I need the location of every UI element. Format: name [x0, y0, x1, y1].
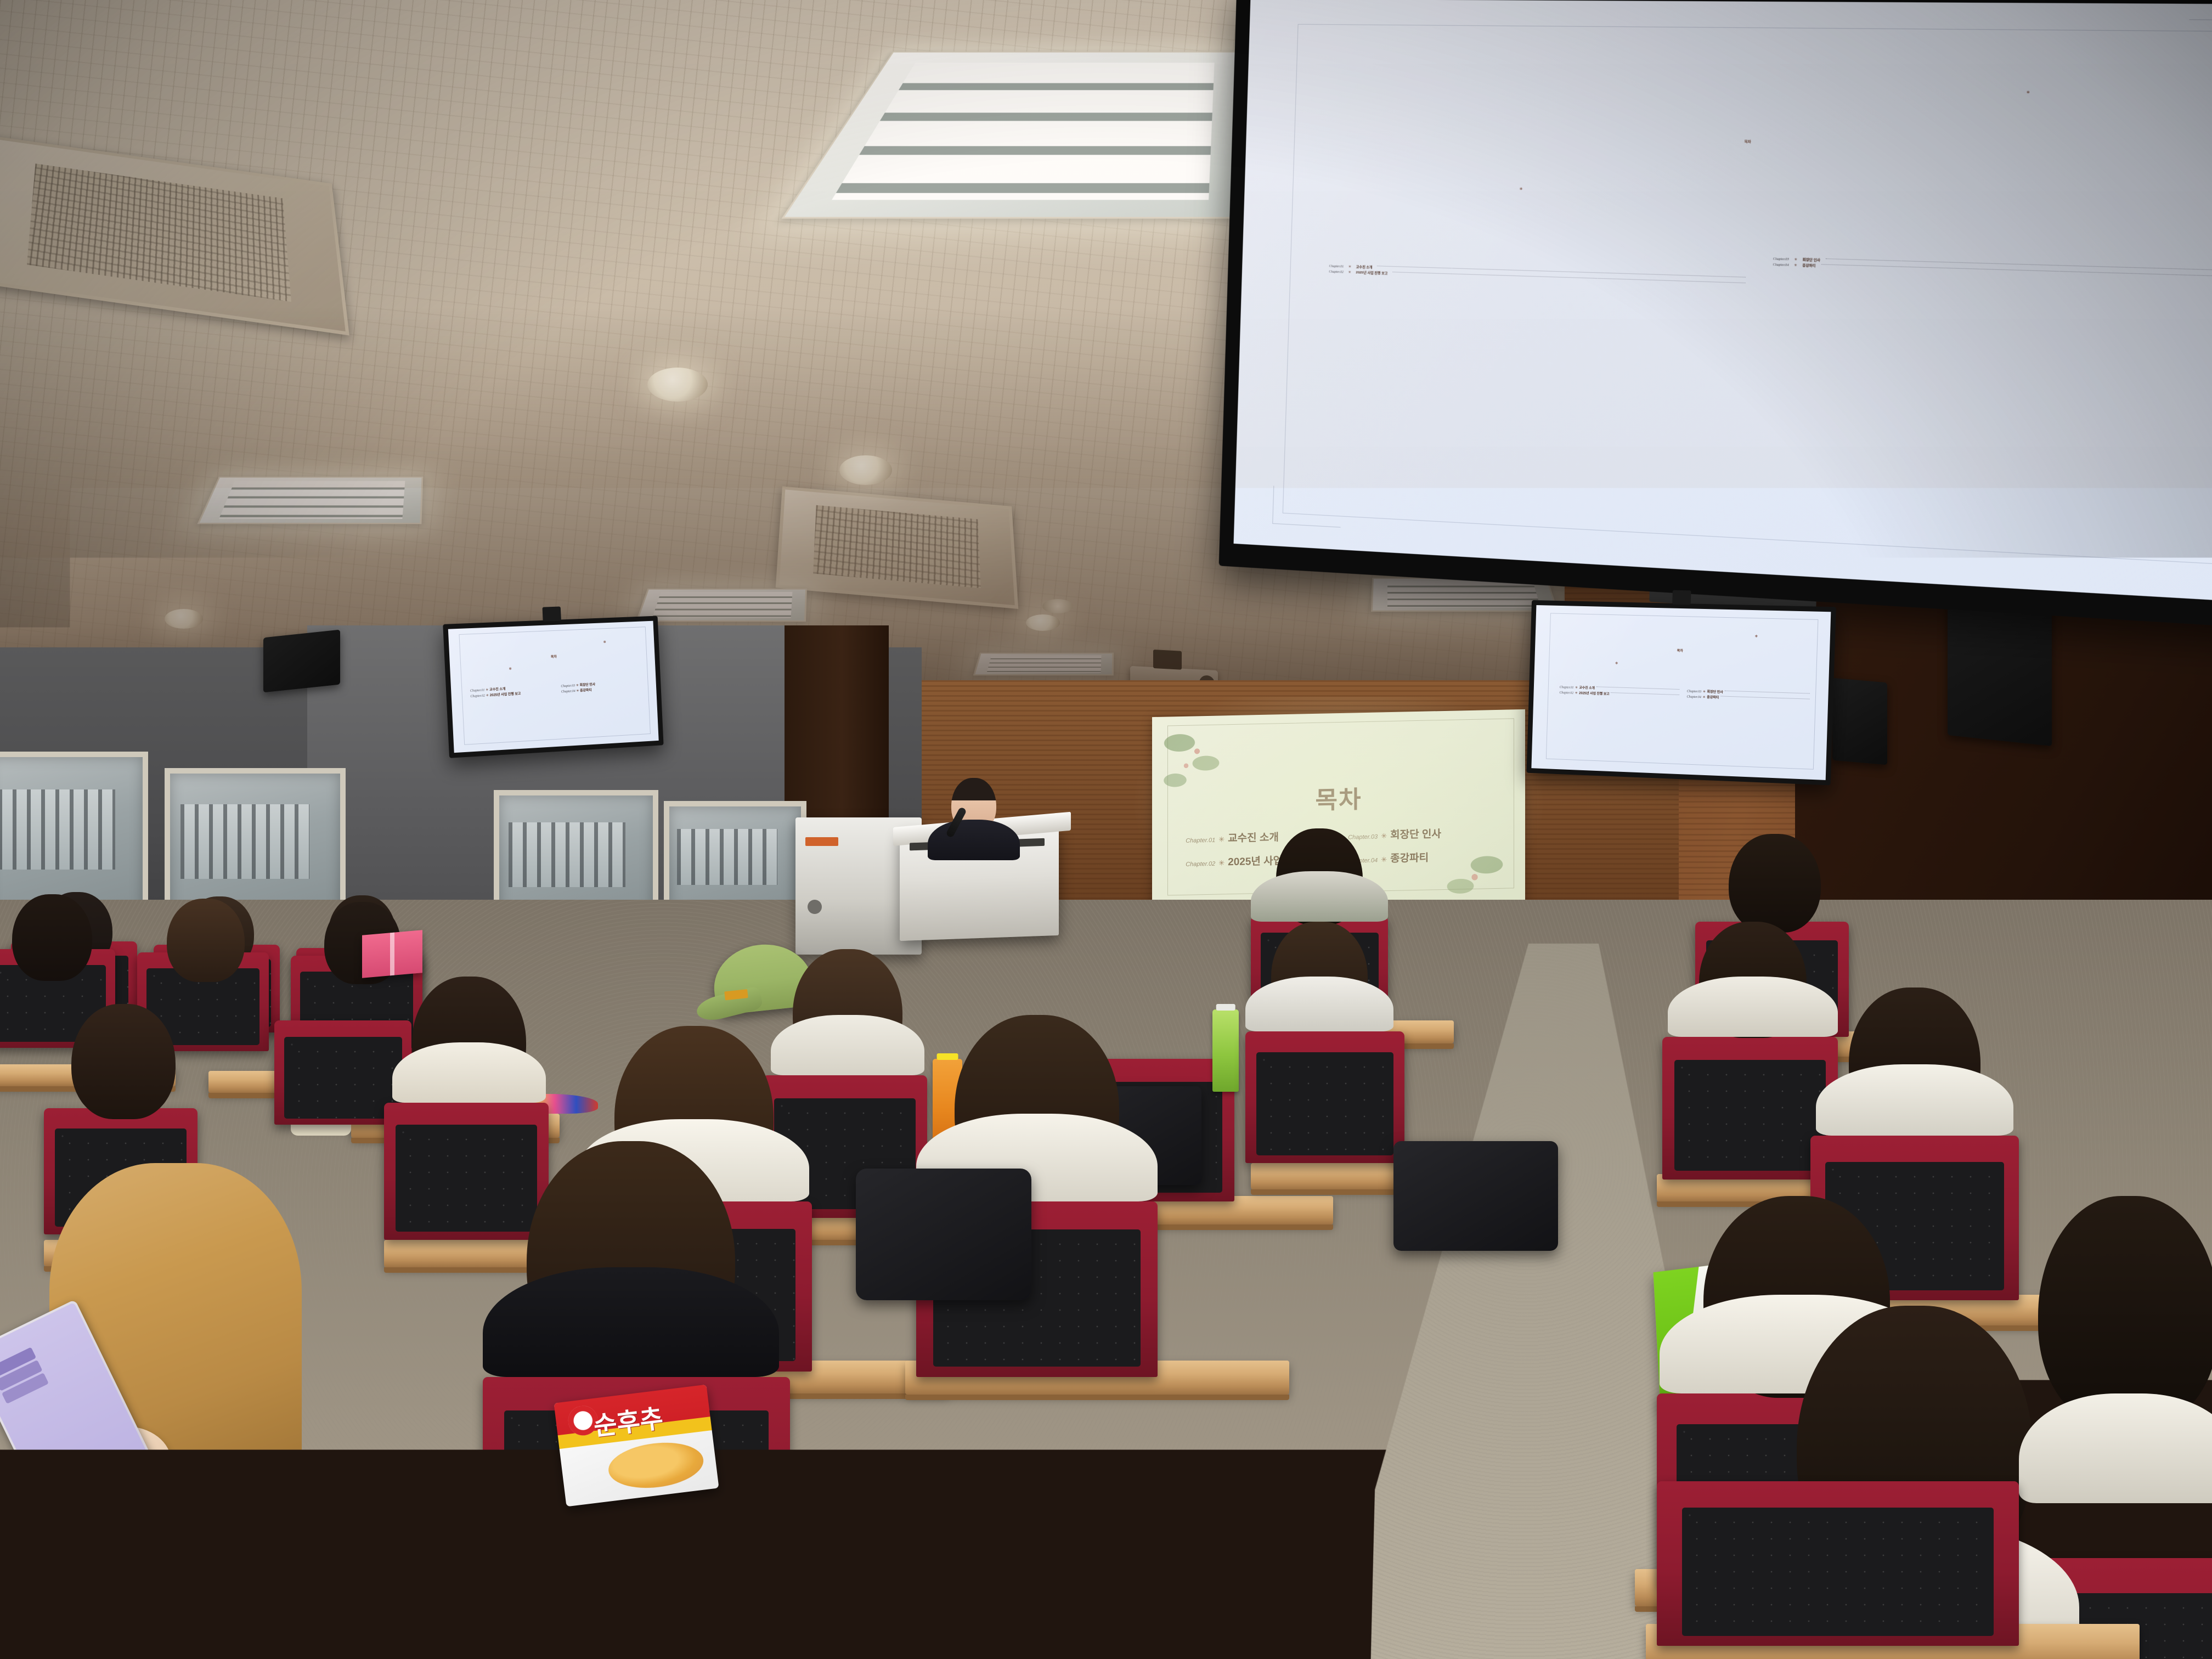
audience-member [55, 1004, 192, 1114]
fluorescent-tubes-icon [832, 63, 1215, 200]
audience-member [148, 899, 263, 975]
seat-back [1674, 1060, 1825, 1171]
monitor-ceiling-mount [542, 606, 561, 621]
wall-speaker [263, 630, 340, 693]
snowflake-icon: ✻ [603, 641, 606, 644]
presenter [927, 778, 1020, 860]
cart-label-icon [805, 837, 838, 846]
snowflake-icon: ✻ [2027, 91, 2030, 95]
main-monitor-screen: ✻ ✻ 목차 Chapter.01 ✳ 교수진 소개 Chapter.03 ✳ … [1234, 0, 2212, 604]
star-bullet-icon: ✳ [1218, 835, 1224, 844]
audience-member [1706, 834, 1843, 927]
person-body [1816, 1064, 2013, 1136]
left-ceiling-monitor[interactable]: ✻ ✻ 목차 Chapter.01 ✳ 교수진 소개 Chapter.03 ✳ … [443, 616, 663, 758]
corner-flourish-icon [1273, 486, 1342, 528]
audience-member [1251, 922, 1388, 1031]
tablet-desk [658, 1629, 1031, 1659]
person-head [2038, 1196, 2212, 1426]
audience-member [494, 1141, 768, 1377]
lecture-hall-scene: 목차 Chapter.01 ✳ 교수진 소개 Chapter.03 ✳ 회장단 … [0, 0, 2212, 1659]
seat-perforation-texture [1674, 1060, 1825, 1171]
star-bullet-icon: ✳ [486, 693, 489, 697]
outside-building [677, 829, 777, 884]
chapter-label: Chapter.01 [1329, 265, 1344, 269]
seat-perforation-texture [1682, 1508, 1994, 1636]
person-body [1668, 977, 1838, 1037]
star-bullet-icon: ✳ [1348, 265, 1351, 269]
chapter-label: Chapter.03 [561, 684, 575, 688]
projection-item-label: 종강파티 [1390, 849, 1429, 865]
toc-item-label: 2025년 사업 진행 보고 [1579, 690, 1610, 696]
slide-right: ✻ ✻ 목차 Chapter.01 ✳ 교수진 소개 Chapter.03 ✳ … [1531, 605, 1831, 780]
chapter-label: Chapter.02 [1329, 270, 1344, 274]
seat-back [1682, 1508, 1994, 1636]
seat-back [1256, 1052, 1393, 1155]
outside-building [180, 804, 310, 879]
person-body [1251, 871, 1388, 922]
outside-building [0, 789, 115, 869]
person-head [167, 899, 245, 982]
star-bullet-icon: ✳ [1575, 691, 1578, 695]
monitor-ceiling-mount [1672, 590, 1691, 605]
star-bullet-icon: ✳ [576, 689, 579, 693]
projection-chapter-label: Chapter.01 [1186, 837, 1215, 844]
star-bullet-icon: ✳ [1794, 263, 1797, 268]
person-body [1245, 977, 1393, 1031]
seat[interactable] [1657, 1481, 2019, 1646]
person-body [483, 1267, 779, 1377]
star-bullet-icon: ✳ [1348, 270, 1351, 274]
person-head [1729, 834, 1821, 933]
snack-product-photo [606, 1438, 706, 1493]
toc-item-label: 2025년 사업 진행 보고 [1356, 270, 1387, 276]
projection-chapter-label: Chapter.02 [1186, 861, 1215, 868]
green-tea-bottle [1212, 1009, 1239, 1092]
pink-gift-box [362, 930, 422, 978]
toc-dotted-rule [1611, 692, 1679, 695]
toc-item-label: 교수진 소개 [1579, 685, 1595, 690]
corner-flourish-icon [2188, 19, 2212, 61]
star-bullet-icon: ✳ [1218, 859, 1224, 867]
bottle-cap-icon [1216, 1004, 1235, 1011]
audience-member [1821, 988, 2008, 1136]
audience-member [0, 894, 110, 971]
chapter-label: Chapter.04 [1686, 696, 1701, 699]
outside-building [509, 822, 625, 888]
audience-member [395, 977, 543, 1103]
star-bullet-icon: ✳ [1703, 690, 1706, 693]
ac-grille-icon [27, 163, 292, 302]
chapter-label: Chapter.04 [1773, 263, 1789, 267]
audience-member [1256, 828, 1383, 922]
cart-knob-icon [808, 900, 822, 914]
wall-speaker [1948, 592, 2052, 746]
toc-item-label: 회장단 인사 [1707, 689, 1723, 695]
star-bullet-icon: ✳ [1702, 696, 1705, 699]
right-ceiling-monitor[interactable]: ✻ ✻ 목차 Chapter.01 ✳ 교수진 소개 Chapter.03 ✳ … [1526, 600, 1836, 786]
star-bullet-icon: ✳ [486, 688, 488, 692]
toc-item-label: 교수진 소개 [489, 686, 506, 692]
foreground-person-body [33, 1492, 318, 1657]
toc-item-label: 교수진 소개 [1356, 264, 1373, 269]
audience-member [1673, 922, 1832, 1037]
slide-main: ✻ ✻ 목차 Chapter.01 ✳ 교수진 소개 Chapter.03 ✳ … [1234, 0, 2212, 604]
toc-item-label: 종강파티 [1707, 695, 1719, 700]
chapter-label: Chapter.01 [1560, 686, 1574, 690]
person-body [2019, 1393, 2212, 1503]
chapter-label: Chapter.01 [470, 689, 485, 692]
toc-item-label: 회장단 인사 [1803, 257, 1821, 262]
snowflake-icon: ✻ [1615, 662, 1618, 665]
seat-perforation-texture [1256, 1052, 1393, 1155]
person-head [71, 1004, 176, 1119]
toc-item-label: 종강파티 [580, 687, 592, 692]
wall-speaker [1832, 678, 1887, 765]
person-body [392, 1042, 546, 1103]
snowflake-icon: ✻ [1755, 635, 1758, 639]
toc-item-label: 회장단 인사 [579, 681, 595, 687]
star-bullet-icon: ✳ [576, 683, 579, 687]
main-wall-monitor[interactable]: ✻ ✻ 목차 Chapter.01 ✳ 교수진 소개 Chapter.03 ✳ … [1219, 0, 2212, 630]
foreground-person-right-2 [2019, 1196, 2212, 1503]
black-backpack [1393, 1141, 1558, 1251]
slide-left: ✻ ✻ 목차 Chapter.01 ✳ 교수진 소개 Chapter.03 ✳ … [448, 621, 659, 753]
chapter-label: Chapter.03 [1773, 257, 1789, 261]
chapter-label: Chapter.02 [1559, 691, 1573, 695]
star-bullet-icon: ✳ [1794, 257, 1797, 262]
seat[interactable] [1245, 1031, 1404, 1163]
snowflake-icon: ✻ [1520, 188, 1522, 191]
black-tote-bag [856, 1169, 1031, 1300]
projection-item-label: 회장단 인사 [1390, 826, 1441, 842]
snowflake-icon: ✻ [509, 668, 512, 671]
sunhuchu-snack-bag: 순후추 [554, 1385, 719, 1507]
star-bullet-icon: ✳ [1575, 686, 1578, 690]
presenter-body [928, 820, 1020, 860]
right-monitor-screen: ✻ ✻ 목차 Chapter.01 ✳ 교수진 소개 Chapter.03 ✳ … [1531, 605, 1831, 780]
person-head [12, 894, 92, 981]
chapter-label: Chapter.03 [1687, 690, 1702, 693]
toc-item-label: 종강파티 [1802, 262, 1816, 268]
left-monitor-screen: ✻ ✻ 목차 Chapter.01 ✳ 교수진 소개 Chapter.03 ✳ … [448, 621, 659, 753]
